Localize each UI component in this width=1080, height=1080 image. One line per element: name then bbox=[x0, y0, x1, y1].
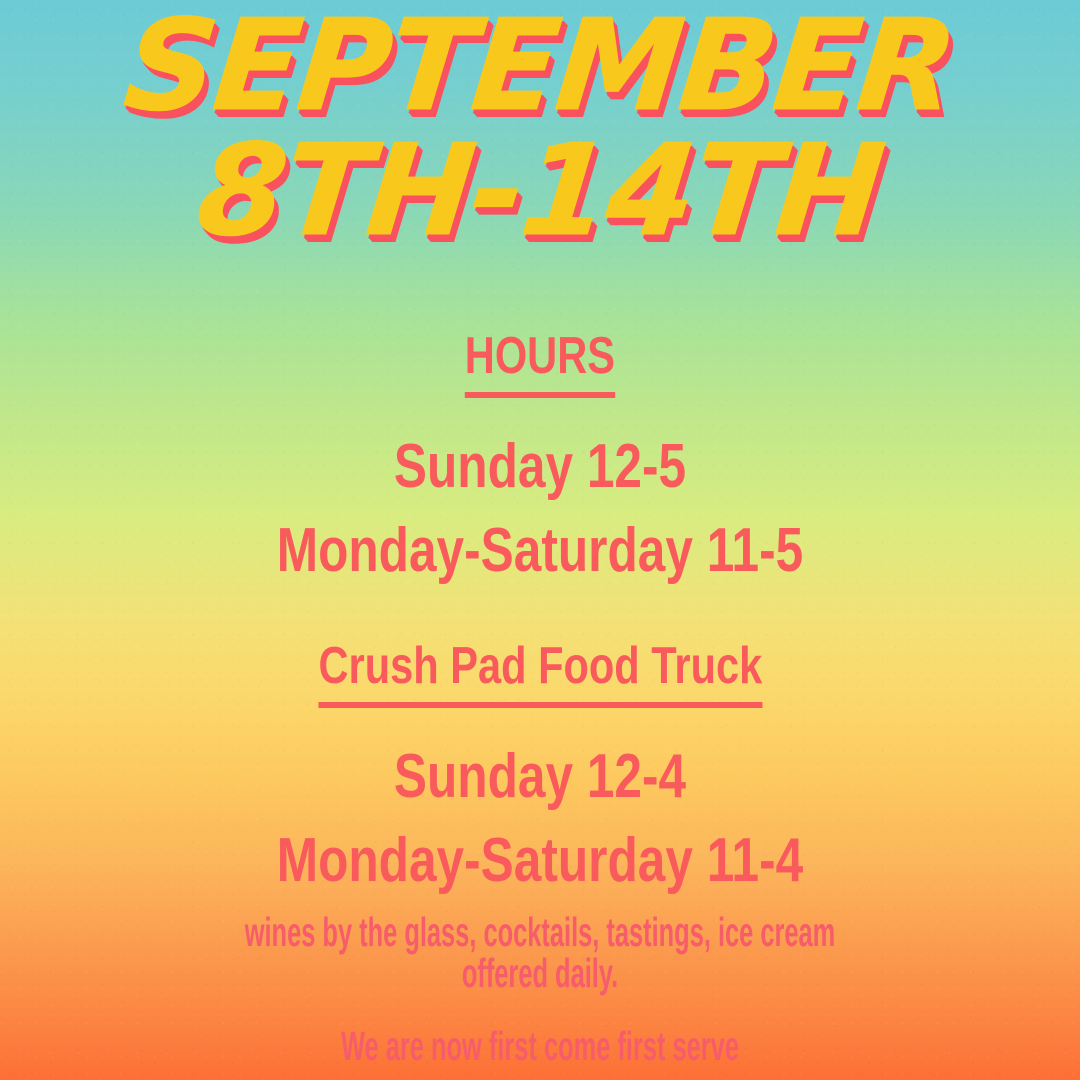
hours-weekday-line: Monday-Saturday 11-5 bbox=[108, 520, 972, 582]
food-truck-section-heading: Crush Pad Food Truck bbox=[318, 640, 762, 708]
headline-line-month: SEPTEMBER bbox=[0, 4, 1080, 127]
hours-section: HOURS Sunday 12-5 Monday-Saturday 11-5 bbox=[0, 330, 1080, 582]
food-truck-weekday-line: Monday-Saturday 11-4 bbox=[108, 830, 972, 892]
footer-policy-line: We are now first come first serve bbox=[205, 1026, 875, 1067]
headline: SEPTEMBER 8TH-14TH bbox=[0, 4, 1080, 253]
footer-offerings-line: wines by the glass, cocktails, tastings,… bbox=[205, 912, 875, 994]
flyer-canvas: SEPTEMBER 8TH-14TH HOURS Sunday 12-5 Mon… bbox=[0, 0, 1080, 1080]
food-truck-sunday-line: Sunday 12-4 bbox=[108, 746, 972, 808]
hours-sunday-line: Sunday 12-5 bbox=[108, 436, 972, 498]
headline-line-dates: 8TH-14TH bbox=[0, 129, 1080, 252]
food-truck-section: Crush Pad Food Truck Sunday 12-4 Monday-… bbox=[0, 640, 1080, 892]
footer-note: wines by the glass, cocktails, tastings,… bbox=[0, 912, 1080, 1067]
hours-section-heading: HOURS bbox=[465, 330, 615, 398]
